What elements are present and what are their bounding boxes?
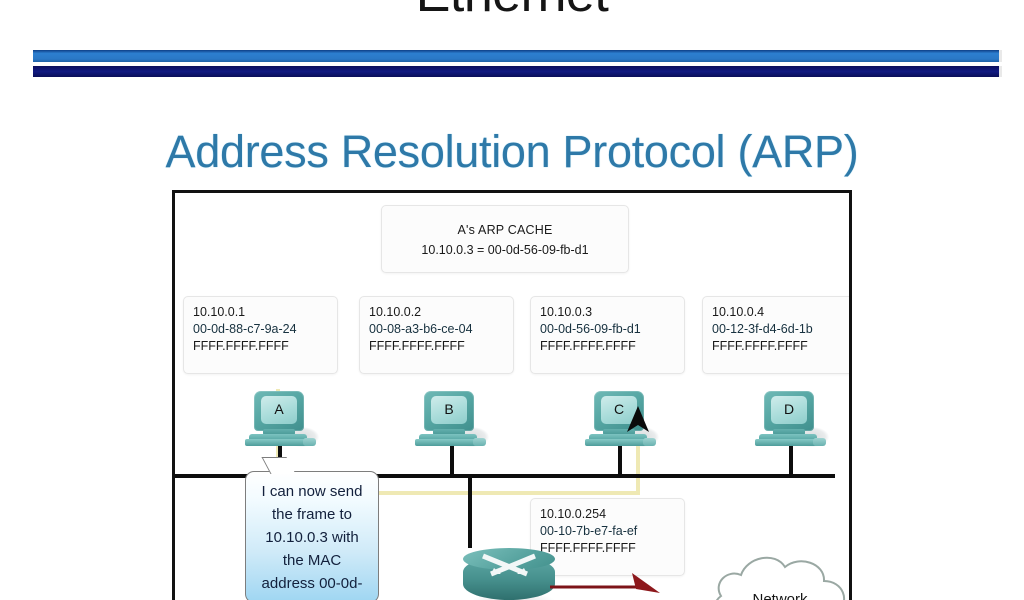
- network-cloud: Network: [705, 541, 852, 600]
- host-mac: 00-12-3f-d4-6d-1b: [712, 321, 847, 338]
- slide-canvas: Ethernet Address Resolution Protocol (AR…: [0, 0, 1024, 600]
- slide-header-title: Ethernet: [0, 0, 1024, 22]
- page-title: Address Resolution Protocol (ARP): [0, 126, 1024, 178]
- host-card-d: 10.10.0.4 00-12-3f-d4-6d-1b FFFF.FFFF.FF…: [702, 296, 852, 374]
- host-broadcast: FFFF.FFFF.FFFF: [193, 338, 328, 355]
- host-card-c: 10.10.0.3 00-0d-56-09-fb-d1 FFFF.FFFF.FF…: [530, 296, 685, 374]
- host-ip: 10.10.0.3: [540, 304, 675, 321]
- keyboard-icon: [245, 439, 307, 446]
- host-ip: 10.10.0.1: [193, 304, 328, 321]
- host-broadcast: FFFF.FFFF.FFFF: [540, 338, 675, 355]
- cloud-label: Network: [705, 591, 852, 600]
- mouse-icon: [303, 438, 316, 446]
- gateway-broadcast: FFFF.FFFF.FFFF: [540, 540, 675, 557]
- host-ip: 10.10.0.2: [369, 304, 504, 321]
- keyboard-icon: [585, 439, 647, 446]
- mouse-icon: [813, 438, 826, 446]
- router-link: [468, 476, 472, 548]
- host-broadcast: FFFF.FFFF.FFFF: [369, 338, 504, 355]
- computer-label: A: [261, 396, 297, 424]
- gateway-ip: 10.10.0.254: [540, 506, 675, 523]
- computer-icon-a: A: [245, 391, 319, 453]
- computer-label: D: [771, 396, 807, 424]
- router-arrows-icon: [477, 552, 541, 580]
- computer-icon-d: D: [755, 391, 829, 453]
- network-diagram: A's ARP CACHE 10.10.0.3 = 00-0d-56-09-fb…: [172, 190, 852, 600]
- host-mac: 00-0d-56-09-fb-d1: [540, 321, 675, 338]
- host-card-b: 10.10.0.2 00-08-a3-b6-ce-04 FFFF.FFFF.FF…: [359, 296, 514, 374]
- callout-line: address 00-0d-: [246, 572, 378, 595]
- divider-bar-navy: [33, 66, 1002, 77]
- mouse-icon: [473, 438, 486, 446]
- host-mac: 00-0d-88-c7-9a-24: [193, 321, 328, 338]
- callout-line: the MAC: [246, 549, 378, 572]
- callout-line: the frame to: [246, 503, 378, 526]
- header-divider: [33, 50, 999, 78]
- keyboard-icon: [755, 439, 817, 446]
- arp-cache-entry: 10.10.0.3 = 00-0d-56-09-fb-d1: [391, 240, 619, 260]
- arp-cache-box: A's ARP CACHE 10.10.0.3 = 00-0d-56-09-fb…: [381, 205, 629, 273]
- host-card-a: 10.10.0.1 00-0d-88-c7-9a-24 FFFF.FFFF.FF…: [183, 296, 338, 374]
- host-ip: 10.10.0.4: [712, 304, 847, 321]
- computer-label: B: [431, 396, 467, 424]
- divider-bar-blue: [33, 50, 1002, 62]
- frame-delivery-arrow-icon: [625, 406, 651, 440]
- host-mac: 00-08-a3-b6-ce-04: [369, 321, 504, 338]
- computer-icon-b: B: [415, 391, 489, 453]
- arp-cache-heading: A's ARP CACHE: [391, 220, 619, 240]
- router-forward-arrow-icon: [550, 567, 660, 600]
- gateway-mac: 00-10-7b-e7-fa-ef: [540, 523, 675, 540]
- speech-callout: I can now send the frame to 10.10.0.3 wi…: [245, 471, 379, 600]
- host-broadcast: FFFF.FFFF.FFFF: [712, 338, 847, 355]
- router-icon: [463, 548, 555, 600]
- keyboard-icon: [415, 439, 477, 446]
- callout-line: 10.10.0.3 with: [246, 526, 378, 549]
- callout-line: I can now send: [246, 480, 378, 503]
- callout-tail: [261, 457, 295, 474]
